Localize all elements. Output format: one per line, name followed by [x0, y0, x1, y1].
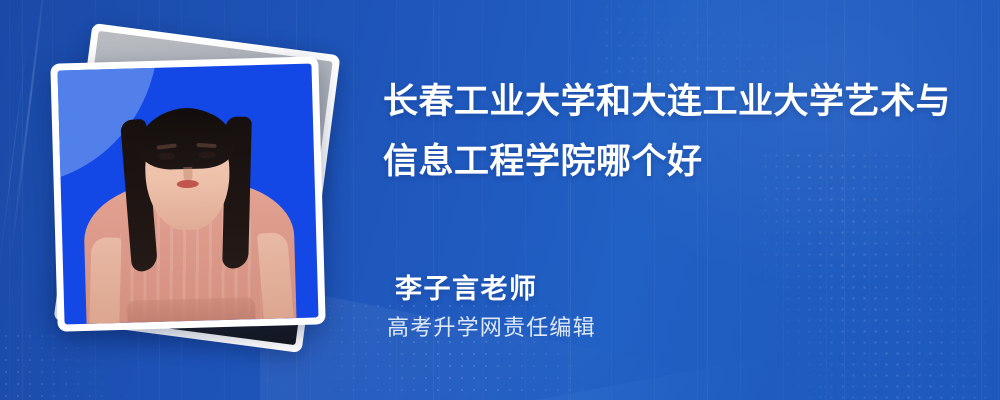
author-credit: 李子言老师 高考升学网责任编辑	[395, 272, 976, 342]
portrait-waistband	[127, 297, 256, 323]
background-light-streak-primary	[10, 0, 49, 259]
author-name: 李子言老师	[395, 272, 976, 306]
author-banner: 长春工业大学和大连工业大学艺术与信息工程学院哪个好 李子言老师 高考升学网责任编…	[0, 0, 1000, 400]
portrait-hair-front	[138, 108, 236, 171]
portrait-figure	[58, 64, 319, 325]
photo-card-stack	[48, 28, 348, 358]
background-light-streak-secondary	[0, 41, 28, 279]
author-role: 高考升学网责任编辑	[387, 314, 976, 342]
article-headline: 长春工业大学和大连工业大学艺术与信息工程学院哪个好	[383, 72, 976, 192]
photo-card-front	[50, 56, 325, 331]
author-portrait-photo	[58, 64, 319, 325]
banner-content: 长春工业大学和大连工业大学艺术与信息工程学院哪个好 李子言老师 高考升学网责任编…	[383, 0, 976, 400]
portrait-arm-left	[89, 237, 121, 324]
